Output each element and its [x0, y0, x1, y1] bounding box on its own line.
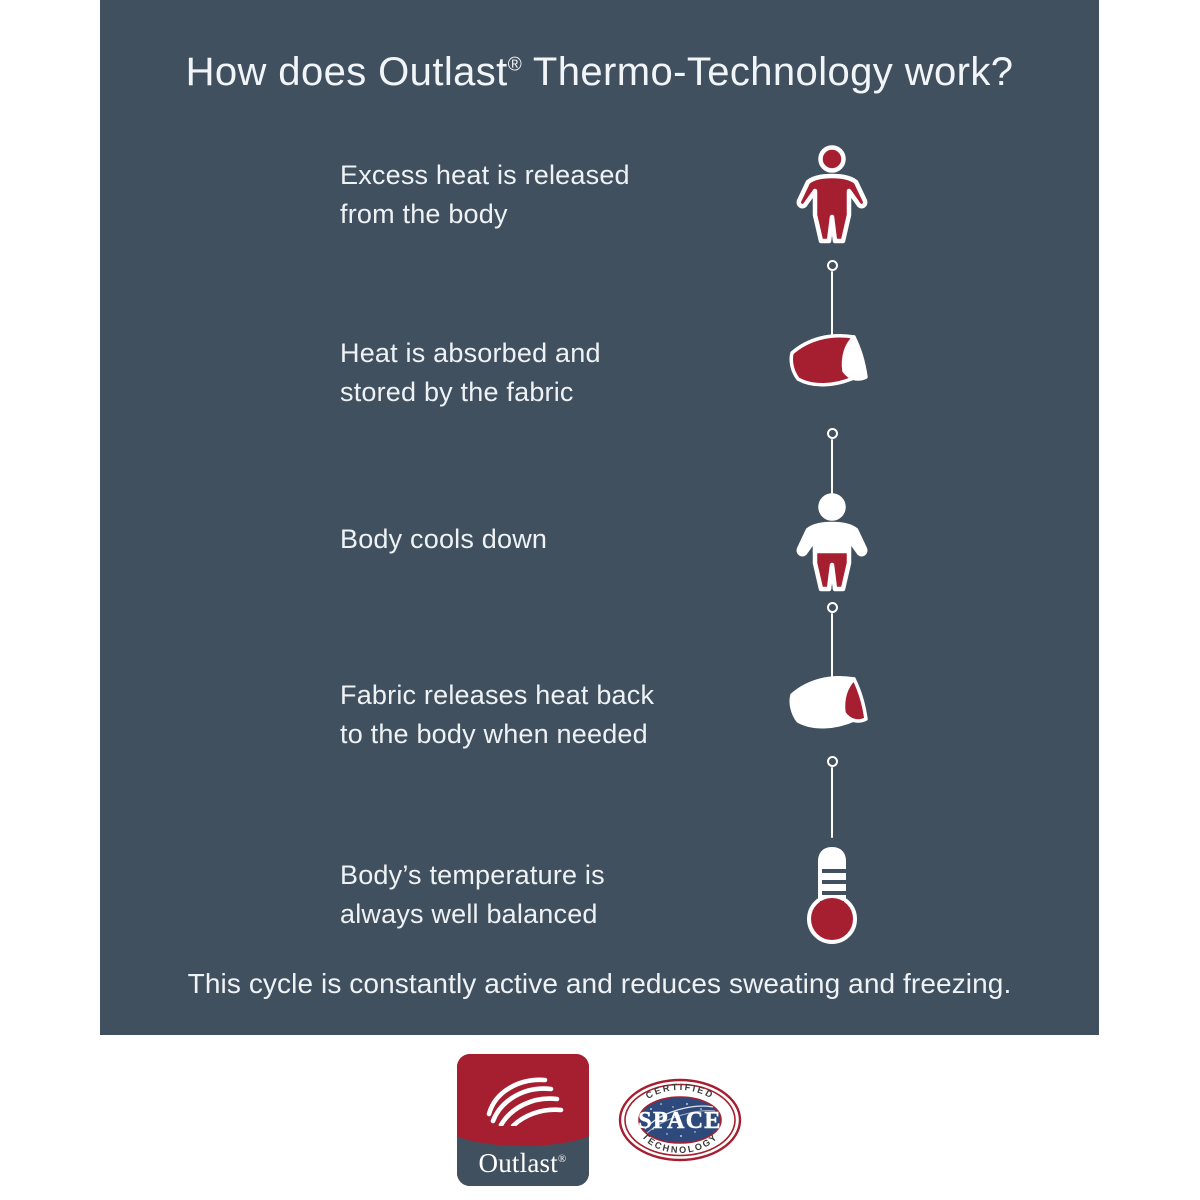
- title-prefix: How does Outlast: [186, 50, 508, 94]
- outlast-swoosh-icon: [483, 1076, 565, 1126]
- person-cool-icon: [772, 488, 892, 598]
- step-1: Excess heat is released from the body: [100, 140, 1099, 250]
- certified-space-technology-logo: SPACE CERTIFIED TECHNOLOGY: [617, 1077, 743, 1163]
- outlast-wordmark-text: Outlast: [479, 1148, 558, 1178]
- step-4-text: Fabric releases heat back to the body wh…: [340, 676, 760, 754]
- connector-ring-icon: [827, 428, 838, 439]
- step-3-text: Body cools down: [340, 520, 760, 559]
- connector-ring-icon: [827, 756, 838, 767]
- step-2: Heat is absorbed and stored by the fabri…: [100, 320, 1099, 420]
- step-5: Body’s temperature is always well balanc…: [100, 840, 1099, 950]
- person-hot-icon: [772, 140, 892, 250]
- infographic-page: How does Outlast® Thermo-Technology work…: [0, 0, 1200, 1200]
- steps-list: Excess heat is released from the body: [100, 140, 1099, 960]
- logo-row: Outlast®: [100, 1040, 1099, 1200]
- title-suffix: Thermo-Technology work?: [522, 50, 1013, 94]
- connector-4: [825, 756, 839, 838]
- connector-stem: [831, 767, 834, 838]
- fabric-releasing-icon: [772, 666, 892, 746]
- outlast-wordmark: Outlast®: [457, 1150, 589, 1177]
- registered-mark-icon: ®: [508, 55, 522, 76]
- step-5-line-2: always well balanced: [340, 895, 760, 934]
- page-title: How does Outlast® Thermo-Technology work…: [100, 48, 1099, 96]
- thermometer-icon: [772, 840, 892, 950]
- step-1-line-2: from the body: [340, 195, 760, 234]
- step-3-line-1: Body cools down: [340, 520, 760, 559]
- connector-ring-icon: [827, 602, 838, 613]
- step-5-line-1: Body’s temperature is: [340, 856, 760, 895]
- step-1-text: Excess heat is released from the body: [340, 156, 760, 234]
- step-3: Body cools down: [100, 488, 1099, 598]
- space-logo-center-text: SPACE: [638, 1108, 721, 1134]
- dark-panel: How does Outlast® Thermo-Technology work…: [100, 0, 1099, 1035]
- step-1-line-1: Excess heat is released: [340, 156, 760, 195]
- step-2-line-1: Heat is absorbed and: [340, 334, 760, 373]
- step-4-line-1: Fabric releases heat back: [340, 676, 760, 715]
- step-5-text: Body’s temperature is always well balanc…: [340, 856, 760, 934]
- fabric-absorbing-icon: [772, 324, 892, 404]
- connector-ring-icon: [827, 260, 838, 271]
- step-2-line-2: stored by the fabric: [340, 373, 760, 412]
- step-4-line-2: to the body when needed: [340, 715, 760, 754]
- step-2-text: Heat is absorbed and stored by the fabri…: [340, 334, 760, 412]
- step-4: Fabric releases heat back to the body wh…: [100, 662, 1099, 762]
- registered-mark-icon: ®: [558, 1153, 567, 1165]
- outlast-logo: Outlast®: [457, 1054, 589, 1186]
- footer-note: This cycle is constantly active and redu…: [100, 968, 1099, 1000]
